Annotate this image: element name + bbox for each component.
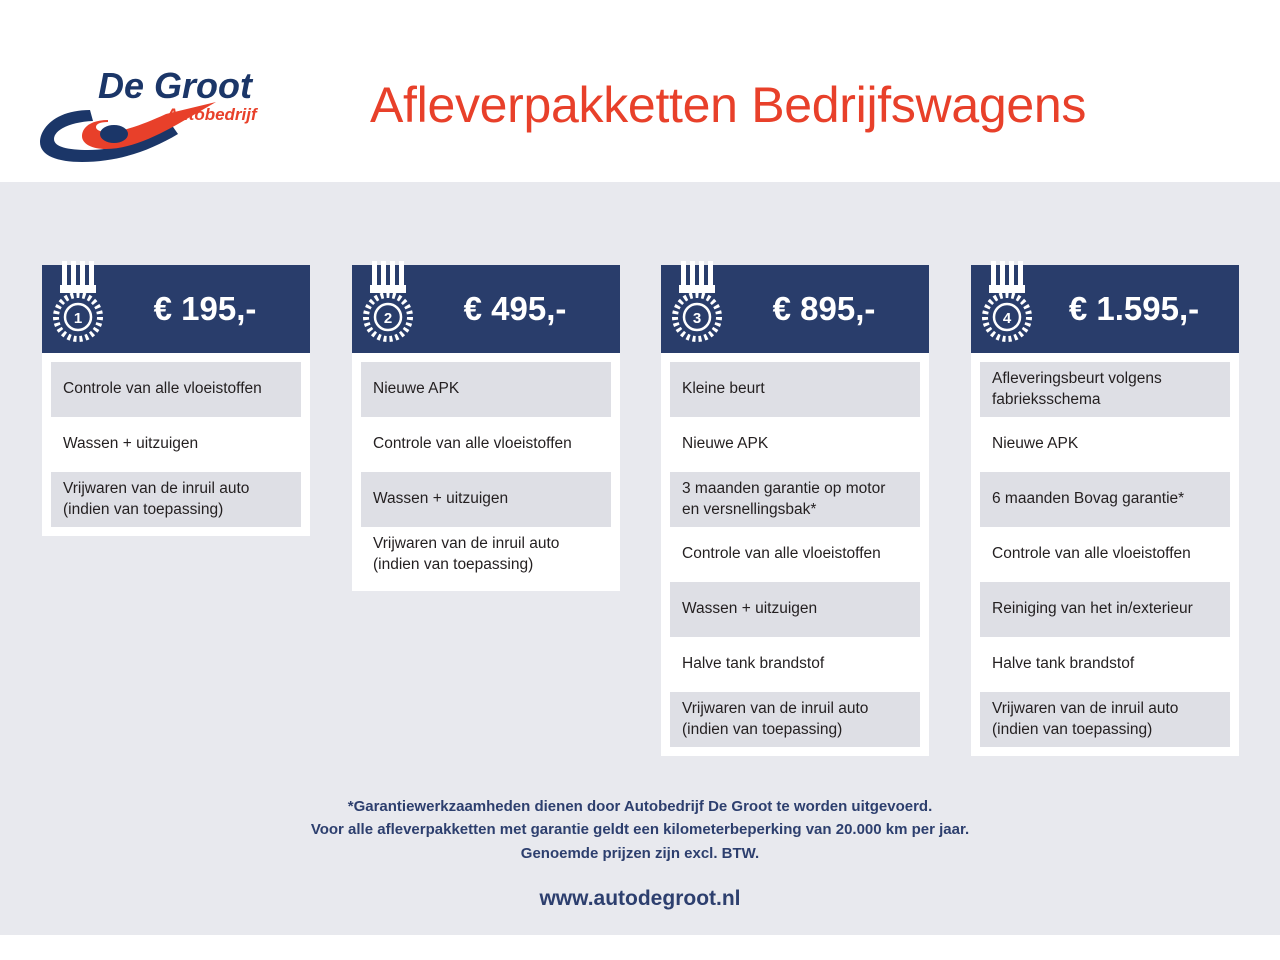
feature-text: Nieuwe APK bbox=[682, 434, 768, 455]
fineprint-line: *Garantiewerkzaamheden dienen door Autob… bbox=[0, 795, 1280, 818]
feature-item: Wassen + uitzuigen bbox=[361, 472, 611, 527]
feature-item: Vrijwaren van de inruil auto(indien van … bbox=[361, 527, 611, 582]
feature-text: Controle van alle vloeistoffen bbox=[63, 379, 262, 400]
feature-item: Wassen + uitzuigen bbox=[51, 417, 301, 472]
medal-rank: 4 bbox=[1003, 310, 1012, 327]
card-header: 1 € 195,- bbox=[42, 265, 310, 353]
footer-fineprint: *Garantiewerkzaamheden dienen door Autob… bbox=[0, 795, 1280, 865]
feature-item: 6 maanden Bovag garantie* bbox=[980, 472, 1230, 527]
card-feature-list: Afleveringsbeurt volgensfabrieksschema N… bbox=[971, 353, 1239, 756]
medal-icon: 4 bbox=[981, 261, 1037, 353]
feature-text: Controle van alle vloeistoffen bbox=[992, 544, 1191, 565]
feature-text: 3 maanden garantie op motoren versnellin… bbox=[682, 479, 885, 520]
website-url[interactable]: www.autodegroot.nl bbox=[0, 887, 1280, 911]
feature-text: 6 maanden Bovag garantie* bbox=[992, 489, 1184, 510]
package-cards: 1 € 195,- Controle van alle vloeistoffen… bbox=[0, 182, 1280, 802]
feature-text: Vrijwaren van de inruil auto(indien van … bbox=[373, 534, 559, 575]
svg-text:De Groot: De Groot bbox=[98, 65, 254, 106]
feature-item: Controle van alle vloeistoffen bbox=[361, 417, 611, 472]
feature-text: Nieuwe APK bbox=[373, 379, 459, 400]
feature-text: Vrijwaren van de inruil auto(indien van … bbox=[992, 699, 1178, 740]
footer: *Garantiewerkzaamheden dienen door Autob… bbox=[0, 795, 1280, 911]
feature-text: Wassen + uitzuigen bbox=[63, 434, 198, 455]
card-price: € 1.595,- bbox=[1037, 290, 1239, 328]
page-title: Afleverpakketten Bedrijfswagens bbox=[370, 76, 1086, 134]
feature-item: Nieuwe APK bbox=[980, 417, 1230, 472]
svg-text:Autobedrijf: Autobedrijf bbox=[165, 105, 259, 124]
medal-rank: 1 bbox=[74, 310, 82, 327]
feature-item: Reiniging van het in/exterieur bbox=[980, 582, 1230, 637]
feature-text: Vrijwaren van de inruil auto(indien van … bbox=[63, 479, 249, 520]
feature-text: Halve tank brandstof bbox=[992, 654, 1134, 675]
feature-item: Nieuwe APK bbox=[361, 362, 611, 417]
card-header: 2 € 495,- bbox=[352, 265, 620, 353]
feature-item: Controle van alle vloeistoffen bbox=[51, 362, 301, 417]
fineprint-line: Voor alle afleverpakketten met garantie … bbox=[0, 818, 1280, 841]
feature-item: 3 maanden garantie op motoren versnellin… bbox=[670, 472, 920, 527]
card-price: € 895,- bbox=[727, 290, 929, 328]
feature-item: Halve tank brandstof bbox=[980, 637, 1230, 692]
package-card[interactable]: 1 € 195,- Controle van alle vloeistoffen… bbox=[42, 265, 310, 536]
feature-item: Vrijwaren van de inruil auto(indien van … bbox=[980, 692, 1230, 747]
feature-text: Kleine beurt bbox=[682, 379, 765, 400]
card-price: € 495,- bbox=[418, 290, 620, 328]
feature-text: Wassen + uitzuigen bbox=[682, 599, 817, 620]
feature-text: Reiniging van het in/exterieur bbox=[992, 599, 1193, 620]
package-card[interactable]: 2 € 495,- Nieuwe APK Controle van alle v… bbox=[352, 265, 620, 591]
page-root: De Groot Autobedrijf Afleverpakketten Be… bbox=[0, 0, 1280, 960]
feature-item: Afleveringsbeurt volgensfabrieksschema bbox=[980, 362, 1230, 417]
card-feature-list: Nieuwe APK Controle van alle vloeistoffe… bbox=[352, 353, 620, 591]
medal-icon: 2 bbox=[362, 261, 418, 353]
feature-text: Halve tank brandstof bbox=[682, 654, 824, 675]
card-feature-list: Kleine beurt Nieuwe APK 3 maanden garant… bbox=[661, 353, 929, 756]
feature-text: Controle van alle vloeistoffen bbox=[373, 434, 572, 455]
feature-item: Vrijwaren van de inruil auto(indien van … bbox=[670, 692, 920, 747]
package-card[interactable]: 4 € 1.595,- Afleveringsbeurt volgensfabr… bbox=[971, 265, 1239, 756]
package-card[interactable]: 3 € 895,- Kleine beurt Nieuwe APK 3 maan… bbox=[661, 265, 929, 756]
card-price: € 195,- bbox=[108, 290, 310, 328]
feature-item: Kleine beurt bbox=[670, 362, 920, 417]
feature-text: Vrijwaren van de inruil auto(indien van … bbox=[682, 699, 868, 740]
card-feature-list: Controle van alle vloeistoffen Wassen + … bbox=[42, 353, 310, 536]
feature-item: Vrijwaren van de inruil auto(indien van … bbox=[51, 472, 301, 527]
medal-icon: 1 bbox=[52, 261, 108, 353]
feature-text: Afleveringsbeurt volgensfabrieksschema bbox=[992, 369, 1162, 410]
feature-item: Nieuwe APK bbox=[670, 417, 920, 472]
header-bar: De Groot Autobedrijf Afleverpakketten Be… bbox=[0, 0, 1280, 182]
feature-text: Wassen + uitzuigen bbox=[373, 489, 508, 510]
fineprint-line: Genoemde prijzen zijn excl. BTW. bbox=[0, 842, 1280, 865]
feature-item: Wassen + uitzuigen bbox=[670, 582, 920, 637]
card-header: 3 € 895,- bbox=[661, 265, 929, 353]
feature-item: Halve tank brandstof bbox=[670, 637, 920, 692]
feature-text: Nieuwe APK bbox=[992, 434, 1078, 455]
card-header: 4 € 1.595,- bbox=[971, 265, 1239, 353]
medal-rank: 2 bbox=[384, 310, 392, 327]
de-groot-logo: De Groot Autobedrijf bbox=[38, 62, 308, 162]
feature-item: Controle van alle vloeistoffen bbox=[670, 527, 920, 582]
feature-text: Controle van alle vloeistoffen bbox=[682, 544, 881, 565]
feature-item: Controle van alle vloeistoffen bbox=[980, 527, 1230, 582]
medal-rank: 3 bbox=[693, 310, 701, 327]
medal-icon: 3 bbox=[671, 261, 727, 353]
